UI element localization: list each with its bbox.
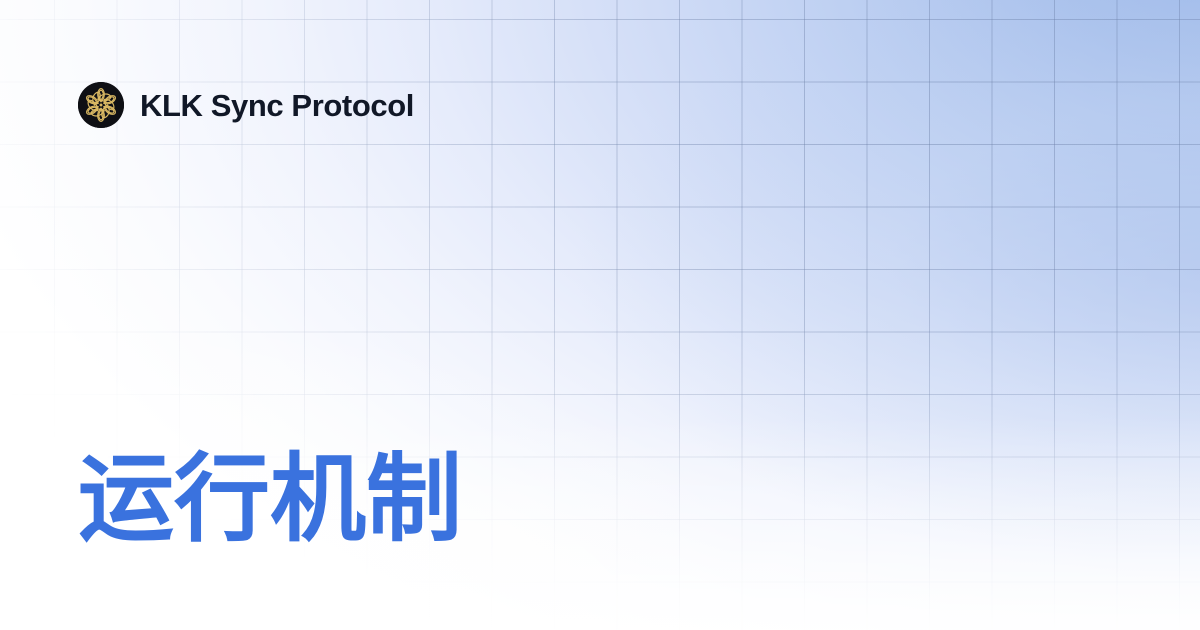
brand-name: KLK Sync Protocol: [140, 90, 414, 121]
rosette-logo-icon: [78, 82, 124, 128]
page-title: 运行机制: [78, 443, 1078, 556]
brand-lockup: KLK Sync Protocol: [78, 82, 414, 128]
og-card: KLK Sync Protocol 运行机制: [0, 0, 1200, 630]
